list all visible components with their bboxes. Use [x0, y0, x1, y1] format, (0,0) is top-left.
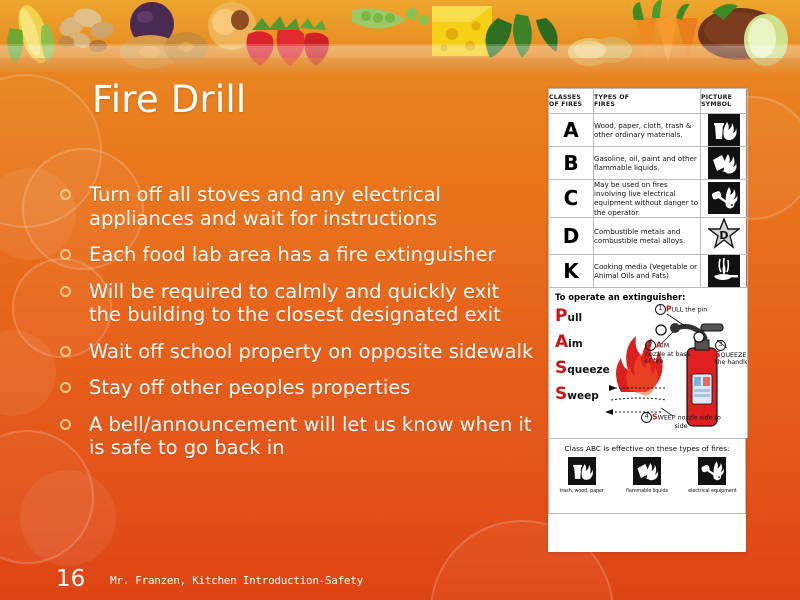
list-item: A bell/announcement will let us know whe…	[56, 413, 536, 460]
class-description: Wood, paper, cloth, trash & other ordina…	[594, 114, 701, 147]
fire-classes-table: CLASSES OF FIRES TYPES OF FIRES PICTURE …	[548, 88, 748, 288]
bullet-circle-icon	[60, 382, 71, 393]
class-abc-panel: Class ABC is effective on these types of…	[548, 438, 746, 514]
table-row: D Combustible metals and combustible met…	[549, 217, 748, 254]
banner-reflection	[0, 46, 800, 72]
list-item: Each food lab area has a fire extinguish…	[56, 243, 536, 267]
electrical-plug-fire-icon	[698, 457, 726, 485]
decorative-circle	[20, 470, 116, 566]
slide: Fire Drill Turn off all stoves and any e…	[0, 0, 800, 600]
class-description: May be used on fires involving live elec…	[594, 180, 701, 218]
list-item-text: Each food lab area has a fire extinguish…	[89, 243, 496, 266]
abc-item: trash, wood, paper	[552, 457, 612, 494]
list-item-text: A bell/announcement will let us know whe…	[89, 413, 532, 460]
table-header-row: CLASSES OF FIRES TYPES OF FIRES PICTURE …	[549, 89, 748, 114]
pass-step-1: 1PULL the pin	[655, 304, 745, 315]
pass-step-4: 4SWEEP nozzle side to side	[641, 412, 721, 430]
page-title: Fire Drill	[92, 78, 246, 121]
class-symbol-cell	[701, 114, 748, 147]
table-row: B Gasoline, oil, paint and other flammab…	[549, 147, 748, 180]
table-row: K Cooking media (Vegetable or Animal Oil…	[549, 254, 748, 287]
list-item: Turn off all stoves and any electrical a…	[56, 183, 536, 230]
list-item-text: Wait off school property on opposite sid…	[89, 340, 533, 363]
pass-step-2: 2AIM nozzle at base of fire	[645, 340, 691, 366]
pass-step-3: 3SQUEEZE the handle	[715, 340, 748, 367]
class-symbol-cell	[701, 180, 748, 218]
decorative-circle	[0, 330, 56, 416]
class-letter-cell: K	[549, 254, 594, 287]
list-item-text: Turn off all stoves and any electrical a…	[89, 183, 441, 230]
table-row: C May be used on fires involving live el…	[549, 180, 748, 218]
electrical-plug-fire-icon	[708, 182, 740, 214]
class-description: Gasoline, oil, paint and other flammable…	[594, 147, 701, 180]
class-symbol-cell: D	[701, 217, 748, 254]
class-description: Combustible metals and combustible metal…	[594, 217, 701, 254]
class-abc-icon-row: trash, wood, paper flammable liquids	[549, 457, 745, 494]
star-d-icon: D	[708, 218, 740, 250]
abc-item: flammable liquids	[617, 457, 677, 494]
page-number: 16	[56, 566, 85, 592]
list-item: Will be required to calmly and quickly e…	[56, 280, 536, 327]
trash-can-fire-icon	[568, 457, 596, 485]
class-letter-cell: A	[549, 114, 594, 147]
header-classes-of-fires: CLASSES OF FIRES	[549, 89, 594, 114]
bullet-circle-icon	[60, 346, 71, 357]
bullet-list: Turn off all stoves and any electrical a…	[56, 183, 536, 473]
bullet-circle-icon	[60, 249, 71, 260]
list-item: Wait off school property on opposite sid…	[56, 340, 536, 364]
bullet-circle-icon	[60, 286, 71, 297]
list-item-text: Will be required to calmly and quickly e…	[89, 280, 501, 327]
pass-diagram: To operate an extinguisher: Pull Aim Squ…	[548, 288, 748, 438]
header-picture-symbol: PICTURE SYMBOL	[701, 89, 748, 114]
fuel-can-fire-icon	[633, 457, 661, 485]
list-item: Stay off other peoples properties	[56, 376, 536, 400]
abc-caption: flammable liquids	[617, 488, 677, 494]
header-types-of-fires: TYPES OF FIRES	[594, 89, 701, 114]
class-letter-cell: B	[549, 147, 594, 180]
class-symbol-cell	[701, 147, 748, 180]
fuel-can-fire-icon	[708, 147, 740, 179]
class-letter-cell: D	[549, 217, 594, 254]
footer-note: Mr. Franzen, Kitchen Introduction-Safety	[110, 574, 363, 587]
abc-item: electrical equipment	[682, 457, 742, 494]
fire-safety-poster: CLASSES OF FIRES TYPES OF FIRES PICTURE …	[548, 88, 746, 552]
cooking-pan-fire-icon	[708, 255, 740, 287]
trash-can-fire-icon	[708, 114, 740, 146]
class-description: Cooking media (Vegetable or Animal Oils …	[594, 254, 701, 287]
svg-text:D: D	[719, 229, 728, 242]
bullet-circle-icon	[60, 419, 71, 430]
bullet-circle-icon	[60, 189, 71, 200]
abc-caption: trash, wood, paper	[552, 488, 612, 494]
class-letter-cell: C	[549, 180, 594, 218]
table-row: A Wood, paper, cloth, trash & other ordi…	[549, 114, 748, 147]
abc-caption: electrical equipment	[682, 488, 742, 494]
class-abc-title: Class ABC is effective on these types of…	[549, 439, 745, 453]
food-photo-banner	[0, 0, 800, 72]
list-item-text: Stay off other peoples properties	[89, 376, 410, 399]
class-symbol-cell	[701, 254, 748, 287]
